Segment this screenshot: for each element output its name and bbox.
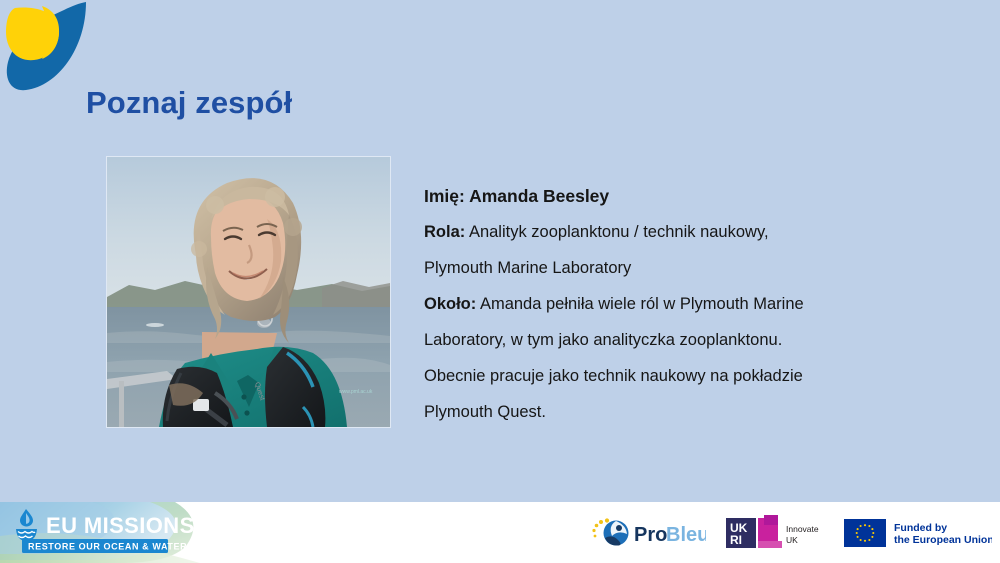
page-title: Poznaj zespół: [86, 85, 292, 121]
eu-flag: [844, 519, 886, 547]
eu-funding-line-2: the European Union: [894, 534, 992, 546]
eu-funding-logo: Funded by the European Union: [844, 515, 992, 551]
bio-text-block: Imię: Amanda Beesley Rola: Analityk zoop…: [424, 178, 894, 430]
bio-role-value: Analityk zooplanktonu / technik naukowy,: [469, 223, 769, 241]
bio-name-value: Amanda Beesley: [469, 186, 609, 206]
probleu-globe-icon: [604, 520, 629, 545]
svg-text:RI: RI: [730, 533, 742, 547]
bio-about-line-3: Obecnie pracuje jako technik naukowy na …: [424, 358, 894, 394]
bio-role-label: Rola:: [424, 223, 465, 241]
innovate-uk-line-2: UK: [786, 535, 798, 545]
bio-about-line-4: Plymouth Quest.: [424, 394, 894, 430]
probleu-logo: Pro Bleu: [588, 516, 706, 550]
innovate-uk-line-1: Innovate: [786, 524, 819, 534]
ukri-innovate-uk-logo: UK RI Innovate UK: [724, 515, 828, 551]
bio-role-line: Rola: Analityk zooplanktonu / technik na…: [424, 214, 894, 250]
eu-missions-title: EU MISSIONS: [46, 513, 195, 538]
probleu-word-bleu: Bleu: [666, 524, 706, 546]
bio-about-label: Około:: [424, 295, 476, 313]
partner-logos: Pro Bleu UK RI Innovate UK: [588, 502, 1000, 563]
svg-text:www.pml.ac.uk: www.pml.ac.uk: [339, 389, 373, 395]
probleu-word-pro: Pro: [634, 524, 667, 546]
amanda-beesley-photo: Quest www.pml.ac.uk: [107, 157, 390, 427]
bio-name-label: Imię:: [424, 186, 465, 206]
footer-bar: EU MISSIONS RESTORE OUR OCEAN & WATERS: [0, 502, 1000, 563]
slide-root: Poznaj zespół: [0, 0, 1000, 563]
eu-missions-subtitle: RESTORE OUR OCEAN & WATERS: [28, 542, 194, 552]
bio-name-line: Imię: Amanda Beesley: [424, 178, 894, 214]
eu-missions-logo: EU MISSIONS RESTORE OUR OCEAN & WATERS: [0, 502, 285, 563]
eu-funding-line-1: Funded by: [894, 522, 947, 534]
bio-about-line-2: Laboratory, w tym jako analityczka zoopl…: [424, 322, 894, 358]
bio-about-value: Amanda pełniła wiele ról w Plymouth Mari…: [480, 295, 804, 313]
bio-about-line: Około: Amanda pełniła wiele ról w Plymou…: [424, 286, 894, 322]
bio-role-line-2: Plymouth Marine Laboratory: [424, 250, 894, 286]
